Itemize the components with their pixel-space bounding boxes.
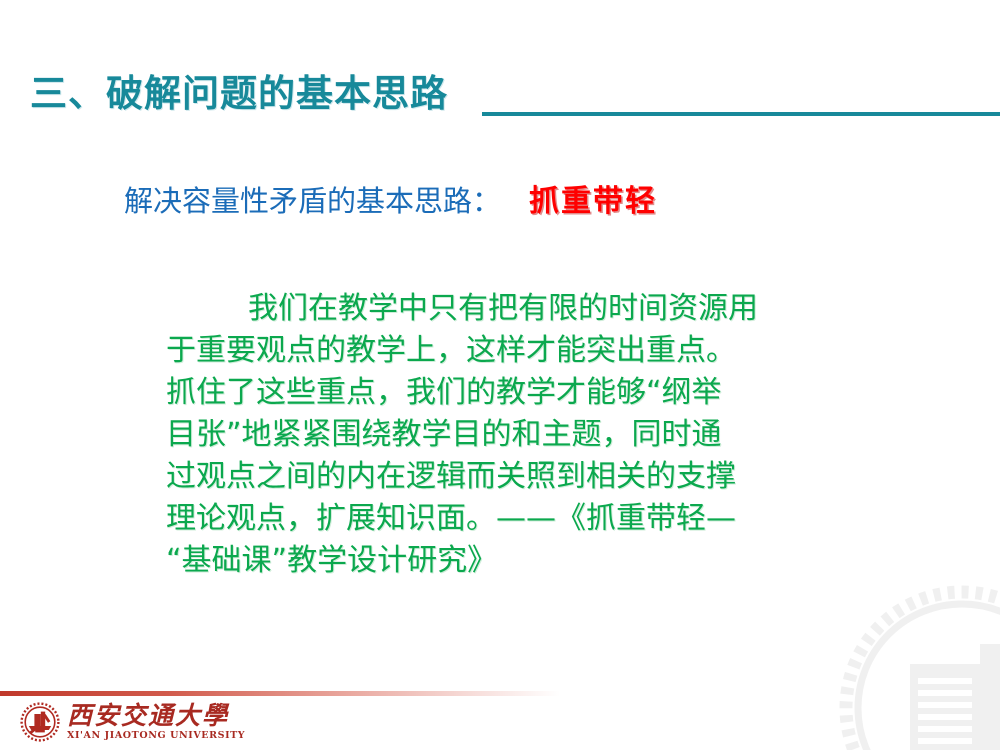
title-underline: [482, 112, 1000, 116]
university-wordmark: 西安交通大學 XI'AN JIAOTONG UNIVERSITY: [67, 702, 245, 742]
page-title: 三、破解问题的基本思路: [30, 72, 448, 116]
xjtu-emblem-watermark: 1896: [832, 578, 1000, 750]
university-seal-icon: [20, 702, 60, 742]
body-line: 目张”地紧紧围绕教学目的和主题，同时通: [166, 414, 838, 456]
body-paragraph: 我们在教学中只有把有限的时间资源用 于重要观点的教学上，这样才能突出重点。 抓住…: [166, 288, 838, 582]
university-name-cn: 西安交通大學: [67, 702, 245, 729]
body-line: 我们在教学中只有把有限的时间资源用: [166, 288, 838, 330]
body-line: “基础课”教学设计研究》: [166, 540, 838, 582]
title-bar: 三、破解问题的基本思路: [0, 72, 1000, 128]
university-logo: 西安交通大學 XI'AN JIAOTONG UNIVERSITY: [20, 700, 245, 744]
footer-divider: [0, 691, 560, 696]
slide-canvas: 1896 三、破解问题的基本思路 解决容量性矛盾的基本思路： 抓重带轻 我们在教…: [0, 0, 1000, 750]
body-line: 于重要观点的教学上，这样才能突出重点。: [166, 330, 838, 372]
subtitle-row: 解决容量性矛盾的基本思路： 抓重带轻: [124, 182, 657, 222]
subtitle-highlight: 抓重带轻: [529, 183, 657, 221]
body-line: 理论观点，扩展知识面。——《抓重带轻—: [166, 498, 838, 540]
body-line: 过观点之间的内在逻辑而关照到相关的支撑: [166, 456, 838, 498]
subtitle-label: 解决容量性矛盾的基本思路：: [124, 182, 501, 220]
university-name-en: XI'AN JIAOTONG UNIVERSITY: [67, 730, 245, 742]
body-line: 抓住了这些重点，我们的教学才能够“纲举: [166, 372, 838, 414]
